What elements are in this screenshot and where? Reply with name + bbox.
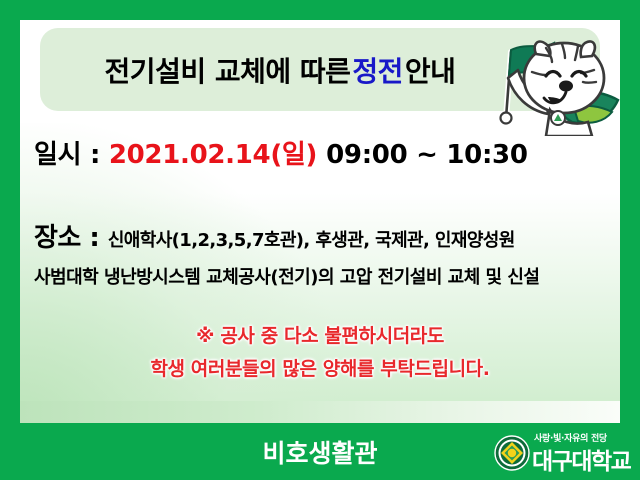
poster-root: 전기설비 교체에 따른 정전 안내 <box>0 0 640 480</box>
white-tiger-mascot-icon <box>488 26 620 136</box>
logo-university-name: 대구대학교 <box>532 442 630 476</box>
background-bottom-strip <box>20 401 620 423</box>
apology-notice: ※ 공사 중 다소 불편하시더라도 학생 여러분들의 많은 양해를 부탁드립니다… <box>20 320 620 386</box>
datetime-label: 일시 : <box>34 140 109 170</box>
datetime-date: 2021.02.14(일) <box>109 140 317 170</box>
university-logo: 사랑·빛·자유의 전당 대구대학교 <box>492 429 634 475</box>
place-label: 장소 : <box>34 223 108 253</box>
notice-line-1: ※ 공사 중 다소 불편하시더라도 <box>20 320 620 353</box>
university-emblem-icon <box>494 435 530 471</box>
page-title: 전기설비 교체에 따른 정전 안내 <box>40 28 520 111</box>
datetime-line: 일시 : 2021.02.14(일)09:00 ~ 10:30 <box>34 134 528 171</box>
content-card: 전기설비 교체에 따른 정전 안내 <box>20 20 620 423</box>
title-part-two: 안내 <box>405 50 456 90</box>
notice-line-2: 학생 여러분들의 많은 양해를 부탁드립니다. <box>20 353 620 386</box>
place-value: 신애학사(1,2,3,5,7호관), 후생관, 국제관, 인재양성원 <box>108 230 515 251</box>
title-accent-word: 정전 <box>352 50 403 90</box>
work-detail-line: 사범대학 냉난방시스템 교체공사(전기)의 고압 전기설비 교체 및 신설 <box>34 263 540 289</box>
footer-bar: 비호생활관 사랑·빛·자유의 전당 대구대학교 <box>0 423 640 480</box>
datetime-time: 09:00 ~ 10:30 <box>326 140 528 170</box>
place-line: 장소 : 신애학사(1,2,3,5,7호관), 후생관, 국제관, 인재양성원 <box>34 217 515 254</box>
title-part-one: 전기설비 교체에 따른 <box>105 50 351 90</box>
